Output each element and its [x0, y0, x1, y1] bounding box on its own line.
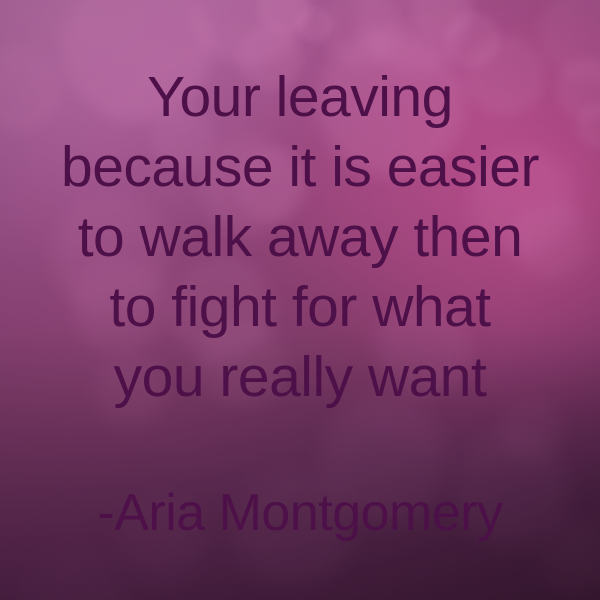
- quote-text-block: Your leaving because it is easier to wal…: [0, 0, 600, 600]
- quote-line-2: because it is easier: [61, 132, 539, 202]
- quote-line-4: to fight for what: [109, 272, 490, 342]
- quote-image-card: Your leaving because it is easier to wal…: [0, 0, 600, 600]
- quote-attribution: -Aria Montgomery: [97, 482, 502, 544]
- quote-line-1: Your leaving: [147, 62, 453, 132]
- quote-line-3: to walk away then: [78, 202, 523, 272]
- quote-line-5: you really want: [114, 342, 487, 412]
